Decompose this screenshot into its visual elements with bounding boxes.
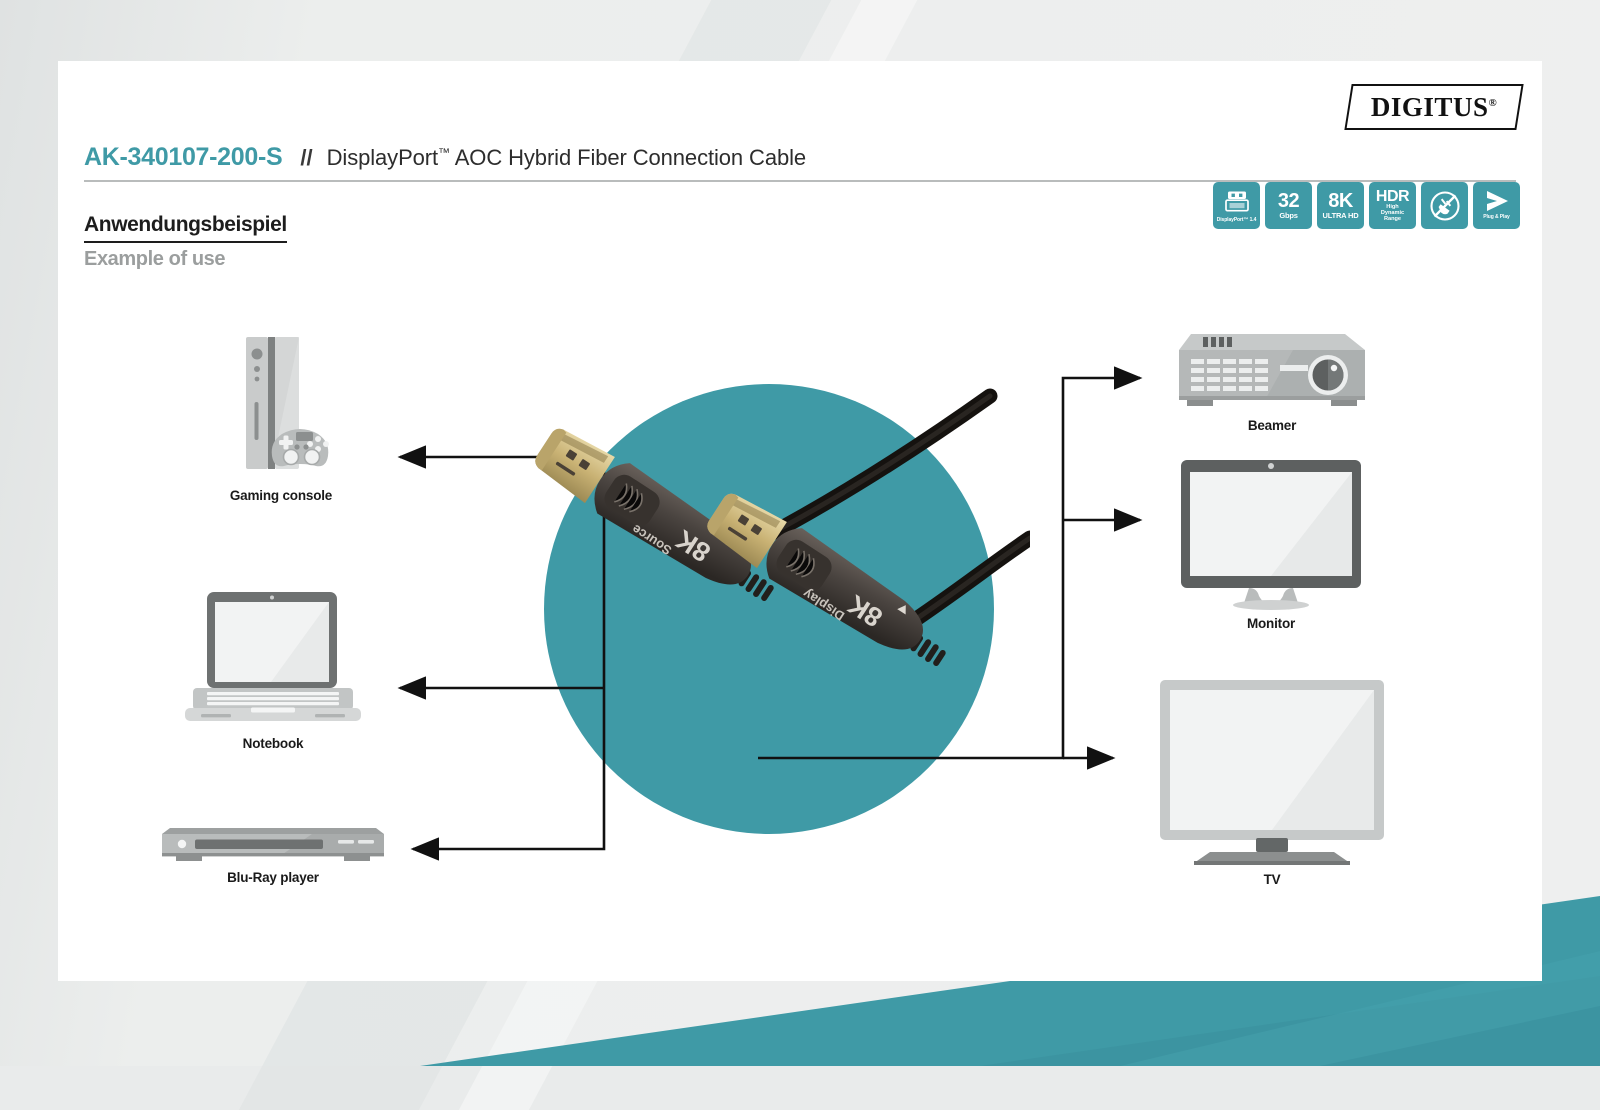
beamer-caption: Beamer: [1172, 418, 1372, 433]
section-heading-en: Example of use: [84, 248, 225, 271]
beamer-art: [1172, 328, 1372, 412]
node-beamer: Beamer: [1172, 328, 1372, 433]
gaming-console-art: [196, 332, 366, 482]
badge-hdr-value: HDR: [1376, 189, 1409, 204]
bluray-player-art: [160, 820, 386, 864]
badge-resolution-unit: ULTRA HD: [1323, 212, 1359, 220]
badge-no-external-power: [1421, 182, 1468, 229]
badge-displayport-label: DisplayPort™ 1.4: [1217, 218, 1257, 223]
section-heading-de: Anwendungsbeispiel: [84, 213, 287, 243]
logo-wordmark: DIGITUS®: [1371, 92, 1497, 123]
tv-art: [1150, 678, 1394, 866]
badge-bandwidth-unit: Gbps: [1279, 212, 1297, 220]
product-photo-backdrop: [544, 384, 994, 834]
badge-bandwidth-value: 32: [1278, 192, 1299, 211]
node-tv: TV: [1150, 678, 1394, 887]
node-bluray-player: Blu-Ray player: [160, 820, 386, 885]
registered-mark: ®: [1488, 97, 1497, 109]
notebook-icon: [179, 588, 367, 730]
badge-resolution: 8K ULTRA HD: [1317, 182, 1364, 229]
trademark-mark: ™: [438, 146, 450, 160]
digitus-logo: DIGITUS®: [1344, 84, 1523, 130]
badge-pnp-label: Plug & Play: [1483, 215, 1509, 220]
node-gaming-console: Gaming console: [196, 332, 366, 503]
displayport-icon: [1222, 189, 1252, 216]
gaming-console-caption: Gaming console: [196, 488, 366, 503]
monitor-caption: Monitor: [1172, 616, 1370, 631]
badge-plug-and-play: Plug & Play: [1473, 182, 1520, 229]
gaming-console-icon: [216, 332, 346, 482]
page-title: AK-340107-200-S // DisplayPort™ AOC Hybr…: [84, 143, 806, 172]
product-description: DisplayPort™ AOC Hybrid Fiber Connection…: [327, 145, 806, 171]
tv-caption: TV: [1150, 872, 1394, 887]
node-monitor: Monitor: [1172, 458, 1370, 631]
badge-displayport-14: DisplayPort™ 1.4: [1213, 182, 1260, 229]
badge-bandwidth: 32 Gbps: [1265, 182, 1312, 229]
title-separator: //: [300, 145, 312, 171]
badge-hdr: HDR High Dynamic Range: [1369, 182, 1416, 229]
badge-resolution-value: 8K: [1328, 192, 1353, 211]
beamer-icon: [1173, 328, 1371, 412]
bluray-player-icon: [162, 820, 384, 864]
notebook-art: [178, 588, 368, 730]
crossed-plug-icon: [1428, 189, 1462, 223]
badge-hdr-line3: Range: [1384, 216, 1401, 222]
monitor-art: [1172, 458, 1370, 610]
tv-icon: [1152, 678, 1392, 866]
node-notebook: Notebook: [178, 588, 368, 751]
bluray-player-caption: Blu-Ray player: [160, 870, 386, 885]
notebook-caption: Notebook: [178, 736, 368, 751]
product-sku: AK-340107-200-S: [84, 143, 282, 172]
plug-play-arrow-icon: [1482, 189, 1512, 213]
monitor-icon: [1173, 458, 1369, 610]
feature-badge-row: DisplayPort™ 1.4 32 Gbps 8K ULTRA HD HDR…: [1213, 182, 1520, 229]
